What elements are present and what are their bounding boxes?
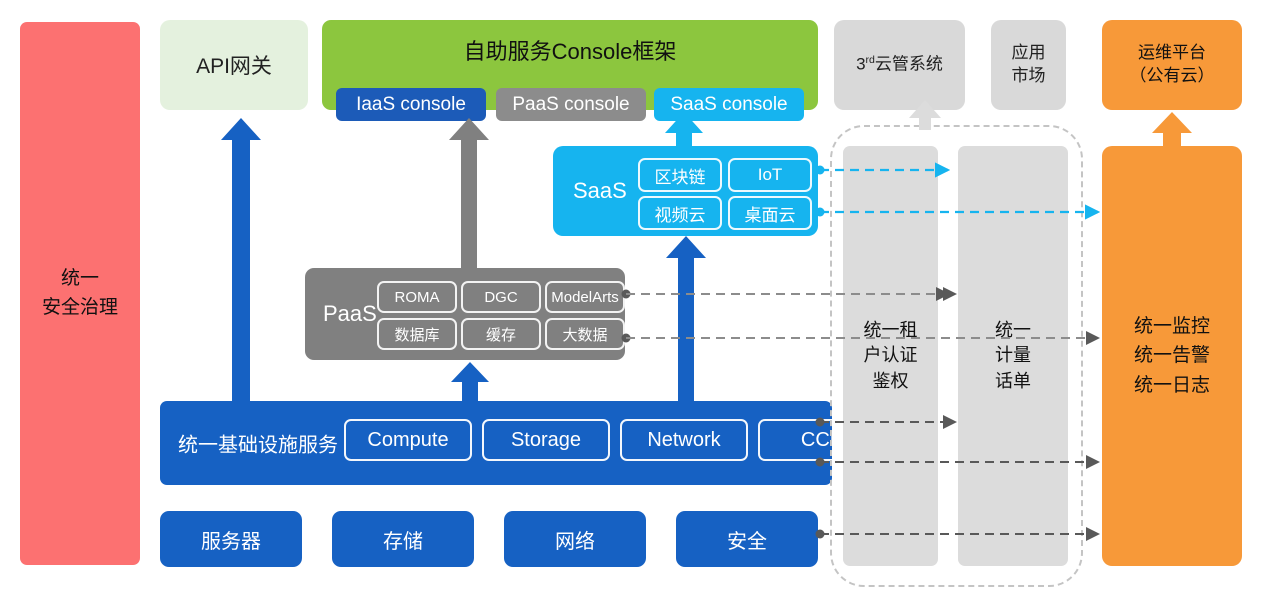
infra-chip-network[interactable]: Network <box>620 419 748 461</box>
infra-chip-compute[interactable]: Compute <box>344 419 472 461</box>
metering-line-1: 统一 <box>995 318 1031 343</box>
ops-side-line-3: 统一日志 <box>1134 371 1210 400</box>
paas-label: PaaS <box>323 301 377 327</box>
architecture-diagram: 统一 安全治理 API网关 自助服务Console框架 IaaS console… <box>0 0 1265 605</box>
paas-chip-modelarts[interactable]: ModelArts <box>545 281 625 313</box>
unified-security-governance-panel: 统一 安全治理 <box>20 22 140 565</box>
ops-side-line-1: 统一监控 <box>1134 312 1210 341</box>
ops-platform-line-1: 运维平台 <box>1130 42 1215 65</box>
ops-platform-line-2: （公有云） <box>1130 65 1215 88</box>
tenant-auth-line-3: 鉴权 <box>864 369 918 394</box>
self-service-console-framework: 自助服务Console框架 IaaS console PaaS console … <box>322 20 818 110</box>
saas-layer: SaaS 区块链 IoT 视频云 桌面云 <box>553 146 818 236</box>
saas-chip-iot[interactable]: IoT <box>728 158 812 192</box>
infrastructure-label: 统一基础设施服务 <box>178 429 338 458</box>
unified-metering-billing-column: 统一 计量 话单 <box>958 146 1068 566</box>
tenant-auth-line-2: 户认证 <box>864 343 918 368</box>
iaas-console-chip[interactable]: IaaS console <box>336 88 486 121</box>
security-line-2: 安全治理 <box>42 294 118 323</box>
paas-layer: PaaS ROMA DGC ModelArts 数据库 缓存 大数据 <box>305 268 625 360</box>
saas-label: SaaS <box>573 178 627 204</box>
security-line-1: 统一 <box>42 265 118 294</box>
saas-chip-video-cloud[interactable]: 视频云 <box>638 196 722 230</box>
resource-box-security[interactable]: 安全 <box>676 511 818 567</box>
arrow-infra-to-api-gateway <box>221 118 261 401</box>
metering-line-2: 计量 <box>995 343 1031 368</box>
paas-chip-roma[interactable]: ROMA <box>377 281 457 313</box>
arrow-paas-to-console <box>449 118 489 268</box>
application-market-box[interactable]: 应用 市场 <box>991 20 1066 110</box>
infra-chip-storage[interactable]: Storage <box>482 419 610 461</box>
arrow-ops-panel-to-ops-platform <box>1152 112 1192 146</box>
app-market-line-2: 市场 <box>1012 65 1046 88</box>
console-framework-title: 自助服务Console框架 <box>322 34 818 66</box>
api-gateway-label: API网关 <box>196 50 272 80</box>
paas-chip-dgc[interactable]: DGC <box>461 281 541 313</box>
unified-tenant-auth-column: 统一租 户认证 鉴权 <box>843 146 938 566</box>
paas-console-chip[interactable]: PaaS console <box>496 88 646 121</box>
unified-monitoring-panel: 统一监控 统一告警 统一日志 <box>1102 146 1242 566</box>
arrow-infra-to-paas <box>451 362 489 401</box>
unified-infrastructure-service-bar: 统一基础设施服务 Compute Storage Network CCE <box>160 401 832 485</box>
ops-side-line-2: 统一告警 <box>1134 341 1210 370</box>
ops-platform-public-cloud-box[interactable]: 运维平台 （公有云） <box>1102 20 1242 110</box>
tenant-auth-line-1: 统一租 <box>864 318 918 343</box>
app-market-line-1: 应用 <box>1012 42 1046 65</box>
third-party-cloud-management-box[interactable]: 3rd云管系统 <box>834 20 965 110</box>
resource-box-server[interactable]: 服务器 <box>160 511 302 567</box>
paas-chip-database[interactable]: 数据库 <box>377 318 457 350</box>
resource-box-storage[interactable]: 存储 <box>332 511 474 567</box>
arrow-infra-to-saas <box>666 236 706 401</box>
paas-chip-bigdata[interactable]: 大数据 <box>545 318 625 350</box>
saas-chip-blockchain[interactable]: 区块链 <box>638 158 722 192</box>
third-party-label: 3rd云管系统 <box>856 53 943 77</box>
saas-console-chip[interactable]: SaaS console <box>654 88 804 121</box>
resource-box-network[interactable]: 网络 <box>504 511 646 567</box>
paas-chip-cache[interactable]: 缓存 <box>461 318 541 350</box>
api-gateway-box[interactable]: API网关 <box>160 20 308 110</box>
saas-chip-desktop-cloud[interactable]: 桌面云 <box>728 196 812 230</box>
metering-line-3: 话单 <box>995 369 1031 394</box>
